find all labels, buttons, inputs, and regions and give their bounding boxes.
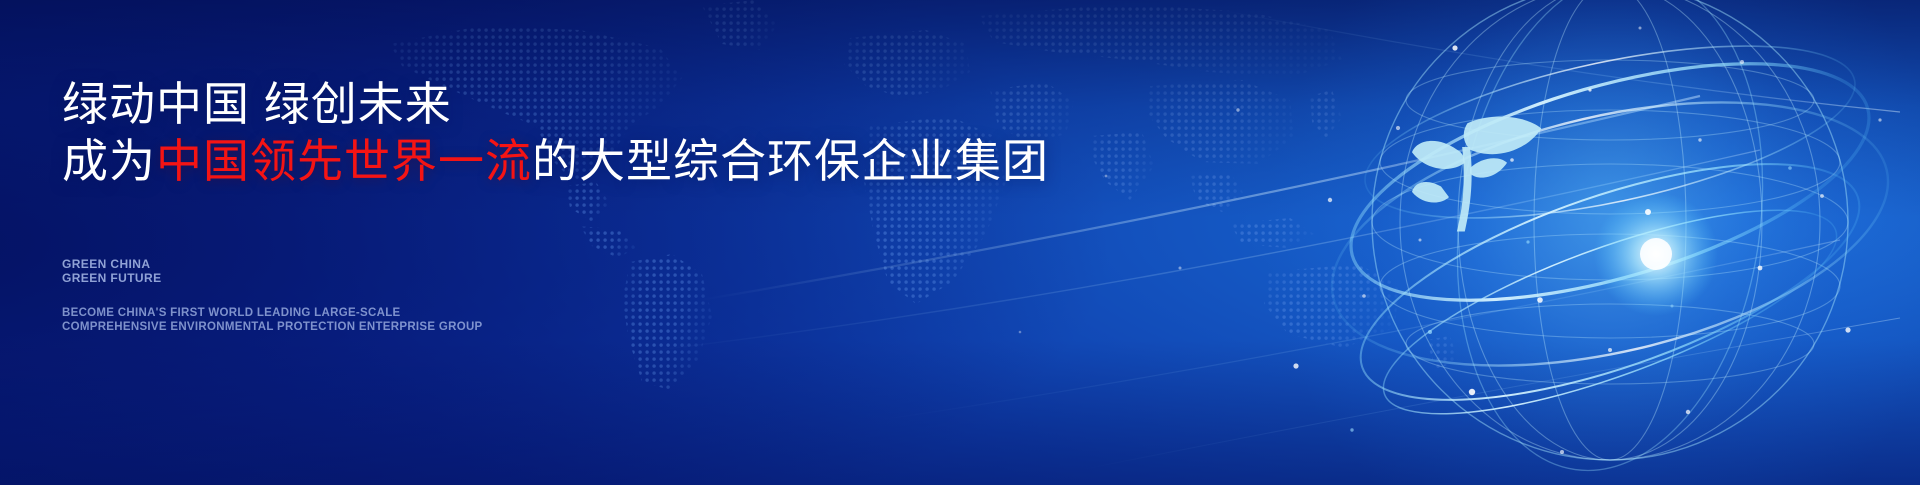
english-slogan-line-2: GREEN FUTURE [62, 271, 161, 285]
headline: 绿动中国 绿创未来 成为中国领先世界一流的大型综合环保企业集团 [62, 76, 1049, 190]
english-caption: BECOME CHINA'S FIRST WORLD LEADING LARGE… [62, 307, 483, 334]
banner-text-block: 绿动中国 绿创未来 成为中国领先世界一流的大型综合环保企业集团 GREEN CH… [62, 0, 1062, 485]
headline-line-2: 成为中国领先世界一流的大型综合环保企业集团 [62, 132, 1049, 190]
headline-line-1: 绿动中国 绿创未来 [62, 76, 1049, 132]
english-slogan: GREEN CHINA GREEN FUTURE [62, 257, 161, 285]
headline-line-2-suffix: 的大型综合环保企业集团 [532, 135, 1049, 187]
english-slogan-line-1: GREEN CHINA [62, 257, 161, 271]
english-caption-line-1: BECOME CHINA'S FIRST WORLD LEADING LARGE… [62, 307, 483, 321]
headline-line-2-highlight: 中国领先世界一流 [156, 135, 532, 187]
headline-line-2-prefix: 成为 [62, 135, 156, 187]
hero-banner: 绿动中国 绿创未来 成为中国领先世界一流的大型综合环保企业集团 GREEN CH… [0, 0, 1920, 485]
english-caption-line-2: COMPREHENSIVE ENVIRONMENTAL PROTECTION E… [62, 321, 483, 335]
